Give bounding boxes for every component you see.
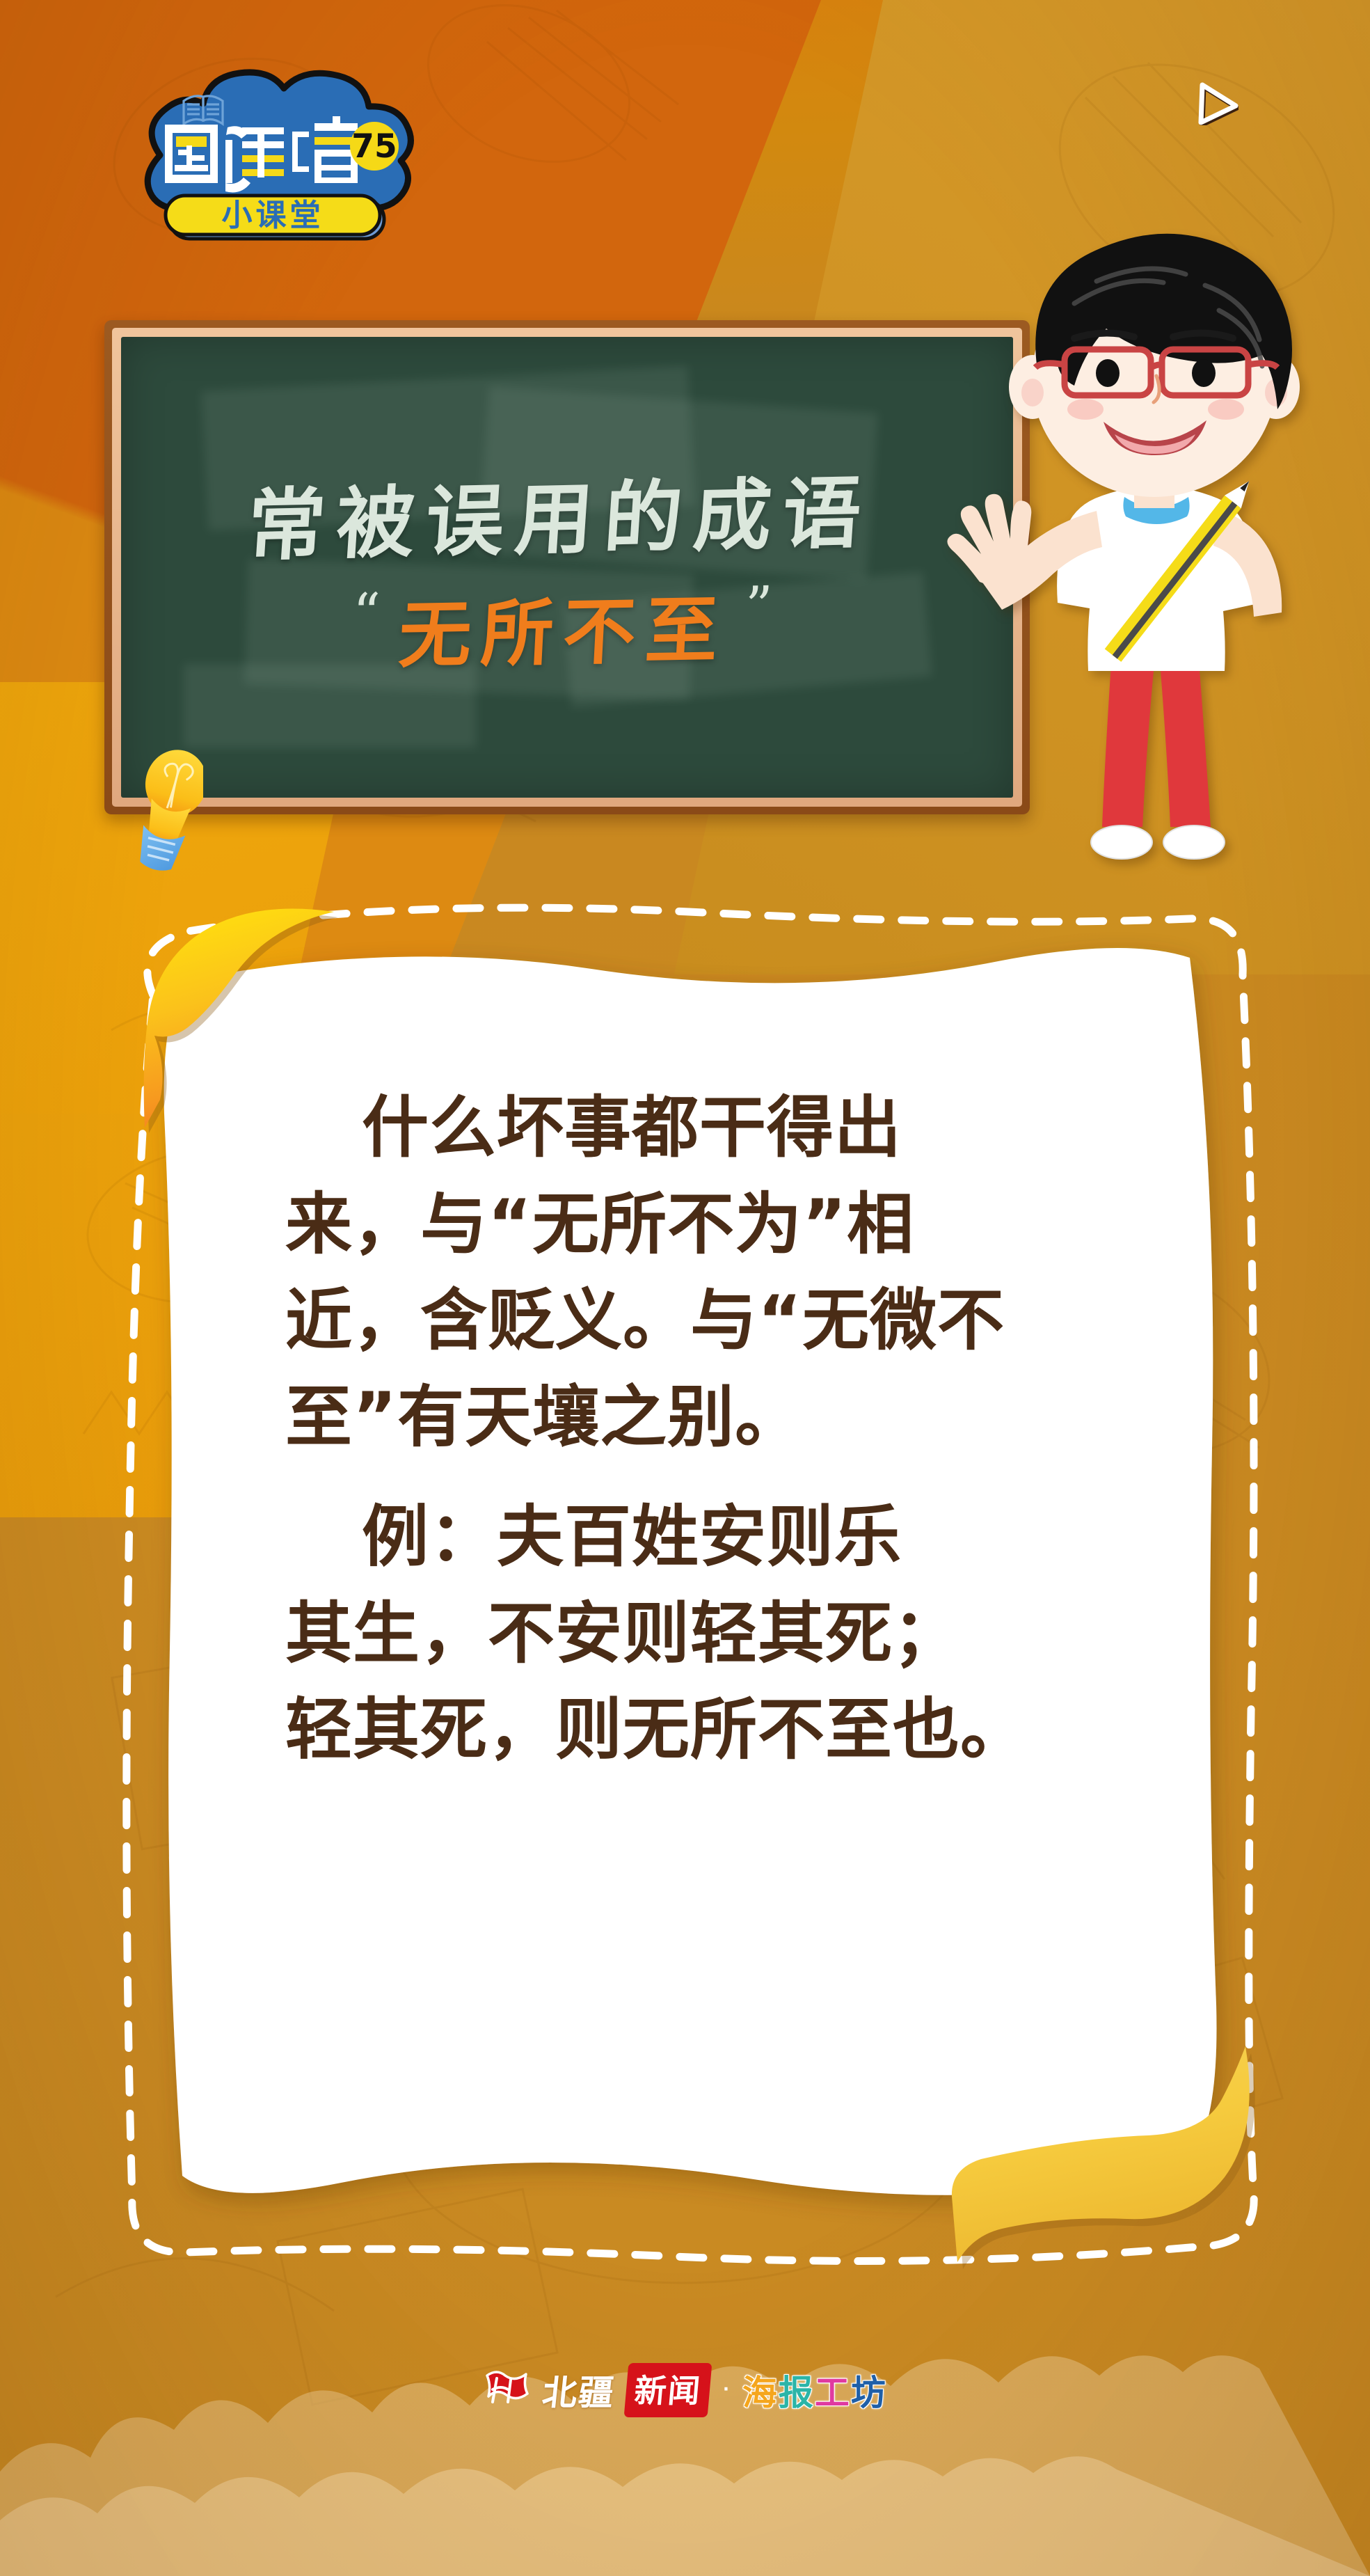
footer-brand-name: 北疆 [540,2365,618,2415]
footer-brand-bar[interactable]: 北疆 新闻 · 海 报 工 坊 [0,2363,1370,2417]
red-flag-icon [483,2369,532,2412]
footer-news-badge: 新闻 [624,2363,712,2417]
boy-teacher-mascot [938,221,1369,890]
corner-ribbon-bottom-right-icon [898,2032,1287,2283]
poster-root: 75 小课堂 常被误用的成语 [0,0,1370,2576]
footer-separator: · [721,2372,731,2403]
card-line-4: 至”有天壤之别。 [285,1372,1245,1463]
logo-char-guo [165,125,218,183]
card-line-1: 什么坏事都干得出 [285,1082,1245,1174]
episode-badge-label: 75 [351,127,397,166]
quote-open-mark: “ [353,597,381,630]
mascot-right-leg [1159,653,1211,827]
footer-studio-char-1: 海 [742,2365,779,2415]
light-bulb-icon [137,739,203,889]
blackboard-frame-inner: 常被误用的成语 “ 无所不至 ” [112,328,1022,807]
blackboard-idiom-row: “ 无所不至 ” [353,569,774,682]
quote-close-mark: ” [745,590,774,623]
blackboard-title: 常被误用的成语 [244,450,876,576]
card-line-6: 其生，不安则轻其死； [285,1588,1245,1680]
card-line-3: 近，含贬义。与“无微不 [285,1275,1245,1366]
mascot-left-eye [1096,359,1120,387]
play-triangle-icon[interactable] [1195,82,1238,125]
blackboard: 常被误用的成语 “ 无所不至 ” [104,320,1030,814]
content-card: 什么坏事都干得出 来，与“无所不为”相 近，含贬义。与“无微不 至”有天壤之别。… [104,891,1273,2276]
episode-badge: 75 [350,122,399,171]
blackboard-surface: 常被误用的成语 “ 无所不至 ” [121,337,1013,798]
footer-studio-char-3: 工 [815,2365,851,2415]
mascot-right-shoe [1163,825,1225,859]
mascot-left-shoe [1091,825,1152,859]
card-paragraph-gap [285,1468,1245,1492]
card-body-text: 什么坏事都干得出 来，与“无所不为”相 近，含贬义。与“无微不 至”有天壤之别。… [285,1082,1245,1781]
logo-subtitle-label: 小课堂 [222,198,324,233]
footer-studio-char-4: 坊 [851,2365,887,2415]
footer-studio-char-2: 报 [779,2365,815,2415]
card-line-2: 来，与“无所不为”相 [285,1179,1245,1270]
card-line-7: 轻其死，则无所不至也。 [285,1684,1245,1776]
blackboard-idiom: 无所不至 [397,570,731,681]
logo-subtitle-pill: 小课堂 [166,196,384,239]
mascot-left-leg [1102,653,1155,827]
mascot-right-eye [1192,359,1216,387]
brand-logo[interactable]: 75 小课堂 [106,73,426,251]
footer-studio-name: 海 报 工 坊 [742,2365,887,2415]
card-line-5: 例：夫百姓安则乐 [285,1492,1245,1583]
